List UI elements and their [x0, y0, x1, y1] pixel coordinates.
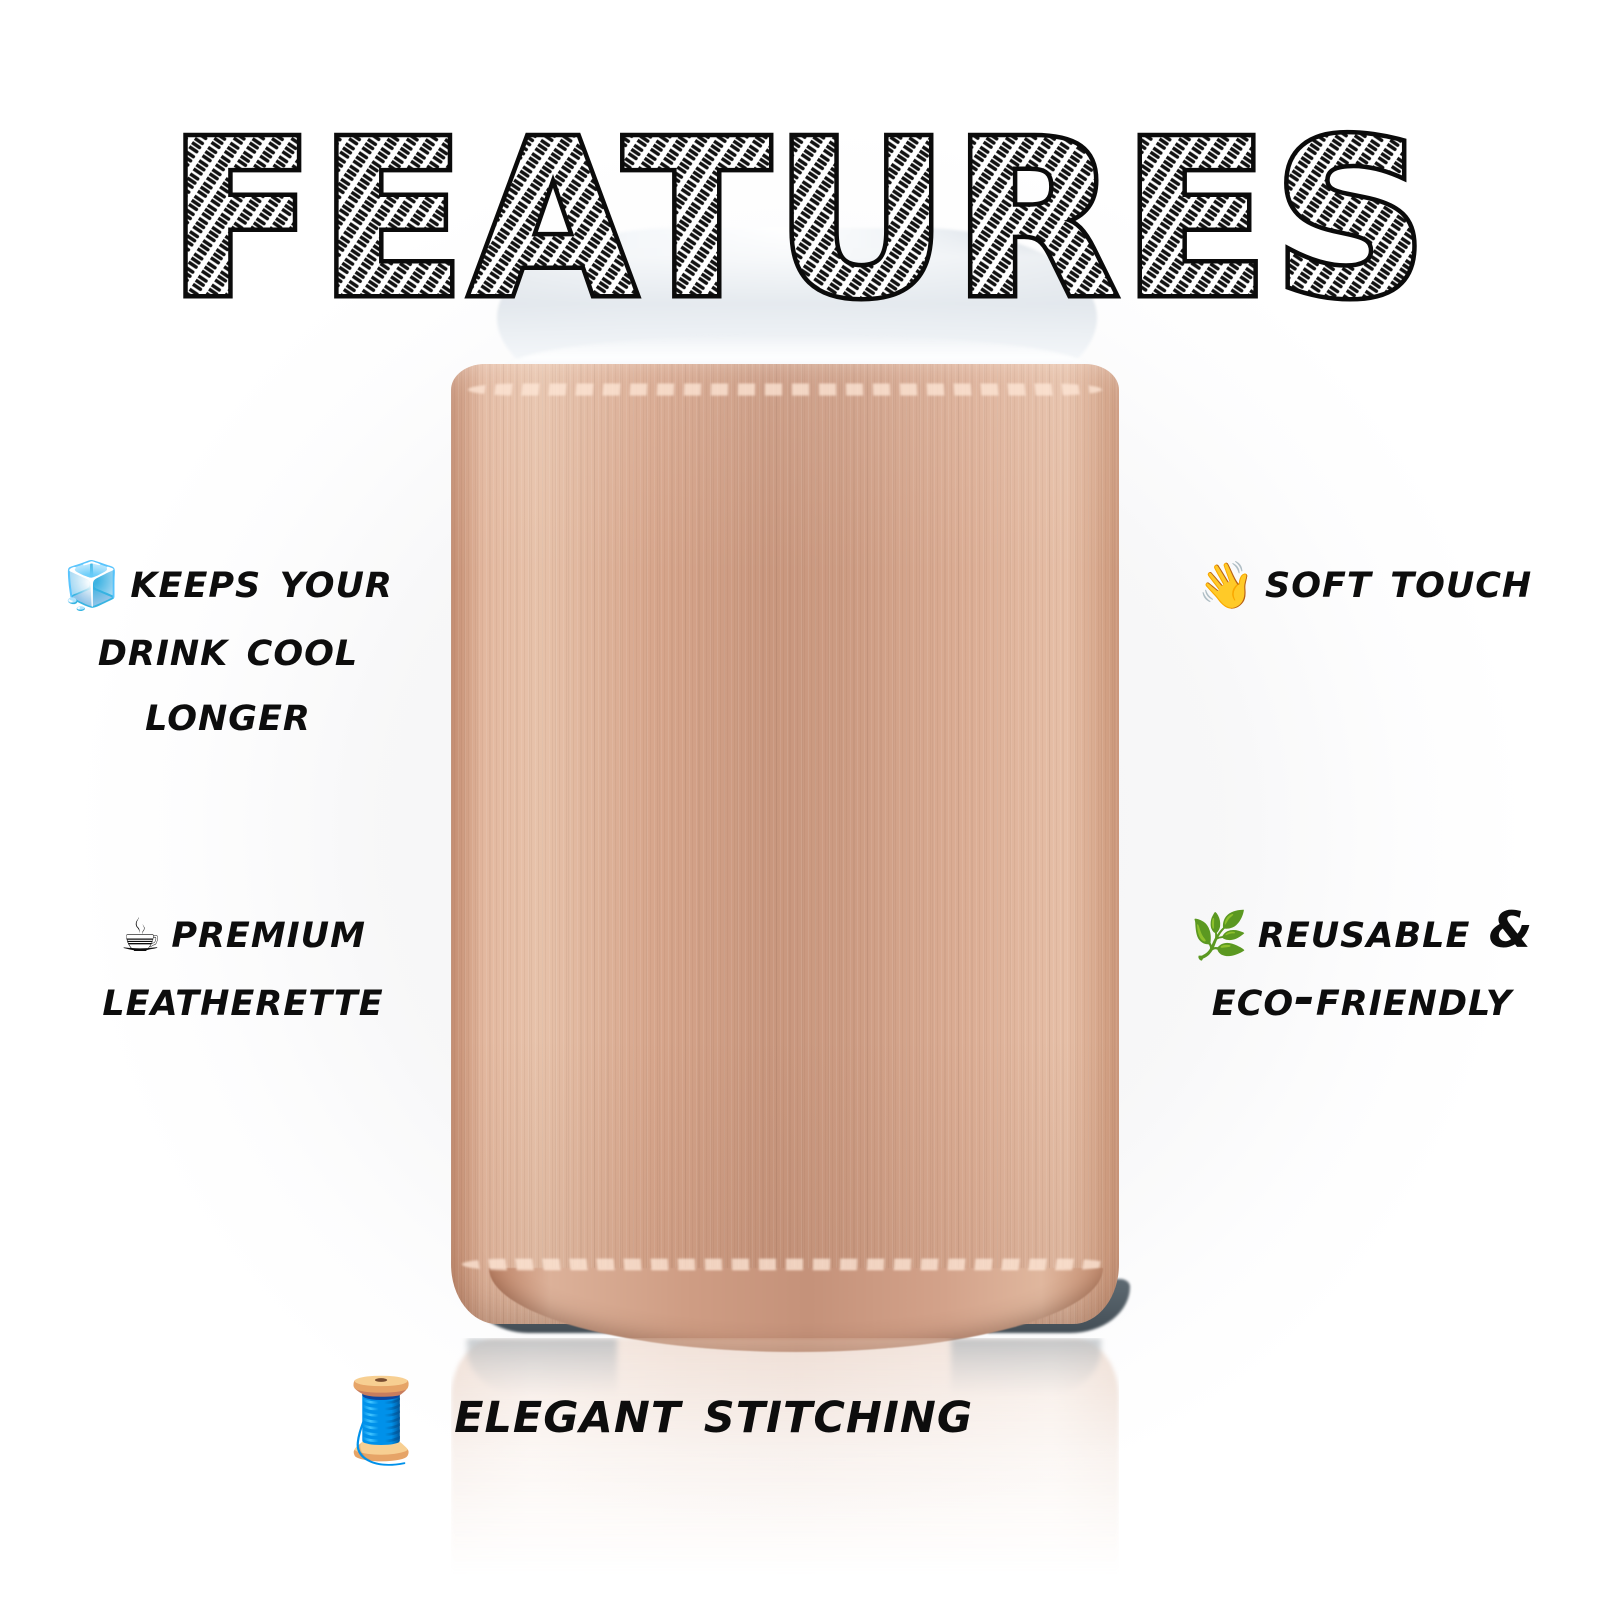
top-stitching [467, 383, 1103, 395]
feature-elegant-stitching: 🧵Elegant Stitching [330, 1368, 1270, 1475]
herb-leaf-icon: 🌿 [1191, 908, 1248, 962]
ice-cube-icon: 🧊 [63, 558, 120, 612]
feature-reusable-eco-label: Reusable & Eco-Friendly [1212, 901, 1534, 1027]
thread-spool-icon: 🧵 [330, 1373, 432, 1468]
feature-keeps-cool: 🧊Keeps Your Drink Cool Longer [8, 548, 448, 746]
waving-hand-icon: 👋 [1198, 558, 1255, 612]
title-text: FEATURES [170, 118, 1430, 345]
sleeve-shading [451, 364, 1119, 1324]
feature-elegant-stitching-label: Elegant Stitching [454, 1374, 973, 1447]
feature-reusable-eco: 🌿Reusable & Eco-Friendly [1136, 898, 1588, 1031]
bottom-stitching [461, 1259, 1109, 1271]
title-sketch-text: FEATURES [170, 118, 1430, 348]
feature-soft-touch: 👋Soft Touch [1150, 548, 1580, 616]
sleeve-bottom-lip [489, 1268, 1103, 1352]
feature-keeps-cool-label: Keeps Your Drink Cool Longer [98, 551, 393, 742]
leatherette-sleeve [451, 364, 1119, 1324]
feature-premium-leatherette: ☕Premium Leatherette [28, 898, 458, 1031]
feature-soft-touch-label: Soft Touch [1265, 551, 1532, 609]
neoprene-base-right [988, 1279, 1130, 1333]
page-title: FEATURES [0, 118, 1600, 348]
coffee-cup-icon: ☕ [120, 908, 161, 962]
neoprene-base-left [469, 1279, 611, 1333]
